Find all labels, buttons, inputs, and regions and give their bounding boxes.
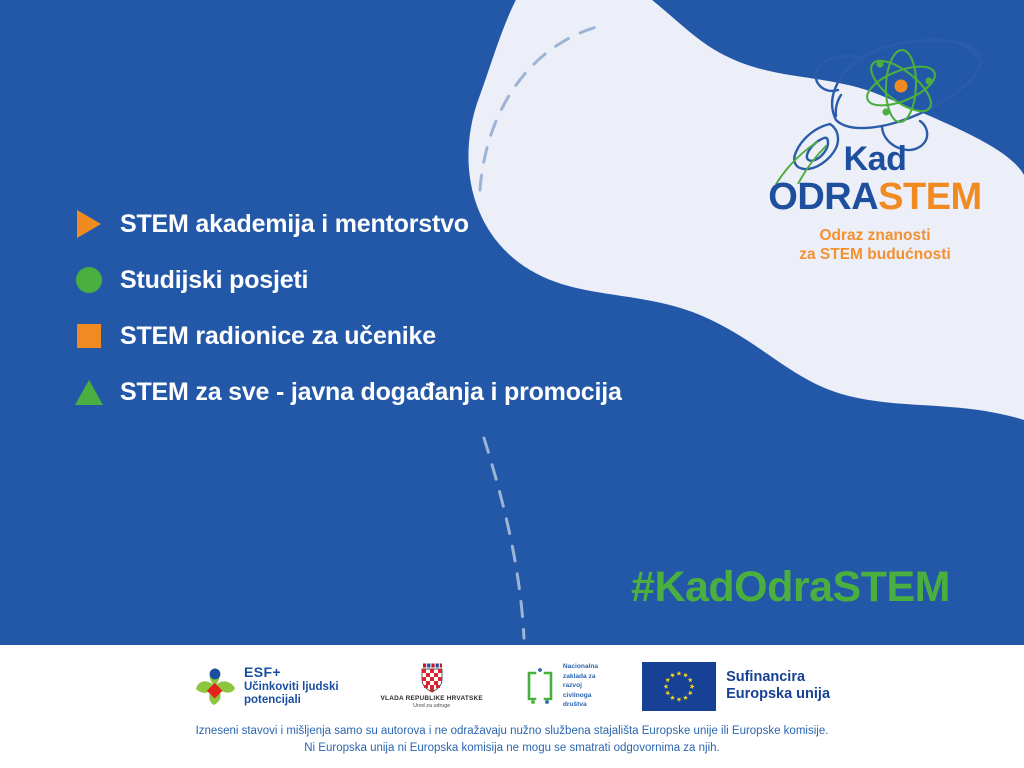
nz-line1: Nacionalna [563, 662, 598, 672]
esf-subtitle-line1: Učinkoviti ljudski [244, 681, 339, 694]
nz-line4: civilnoga [563, 691, 598, 701]
logo-tagline: Odraz znanosti za STEM budućnosti [740, 227, 1010, 265]
vlada-rh-logo: VLADA REPUBLIKE HRVATSKE Ured za udruge [381, 663, 483, 709]
logo-wordmark: Kad ODRASTEM Odraz znanosti za STEM budu… [740, 142, 1010, 265]
triangle-up-icon [72, 375, 106, 409]
esf-text-block: ESF+ Učinkoviti ljudski potencijali [244, 665, 339, 706]
funder-logo-strip: ESF+ Učinkoviti ljudski potencijali [0, 657, 1024, 715]
disclaimer-line2: Ni Europska unija ni Europska komisija n… [0, 740, 1024, 757]
kad-odrastem-logo: Kad ODRASTEM Odraz znanosti za STEM budu… [740, 24, 1010, 264]
nz-line3: razvoj [563, 681, 598, 691]
circle-icon [72, 263, 106, 297]
nz-line5: društva [563, 700, 598, 710]
hashtag-text: #KadOdraSTEM [631, 563, 950, 612]
disclaimer-line1: Izneseni stavovi i mišljenja samo su aut… [0, 723, 1024, 740]
poster-canvas: STEM akademija i mentorstvo Studijski po… [0, 0, 1024, 768]
nacionalna-zaklada-text: Nacionalna zaklada za razvoj civilnoga d… [563, 662, 598, 710]
esf-subtitle-line2: potencijali [244, 694, 339, 707]
eu-line2: Europska unija [726, 686, 830, 703]
bullet-list: STEM akademija i mentorstvo Studijski po… [72, 196, 772, 420]
logo-line-kad: Kad [740, 142, 1010, 176]
nacionalna-zaklada-logo: Nacionalna zaklada za razvoj civilnoga d… [523, 662, 598, 710]
logo-tagline-line2: za STEM budućnosti [740, 246, 1010, 265]
triangle-right-icon [72, 207, 106, 241]
logo-stem-text: STEM [878, 176, 982, 218]
list-item-label: STEM radionice za učenike [120, 322, 436, 351]
logo-line-odrastem: ODRASTEM [740, 178, 1010, 218]
list-item-label: STEM za sve - javna događanja i promocij… [120, 378, 622, 407]
vlada-subtitle: Ured za udruge [413, 703, 450, 709]
eu-flag-icon [642, 662, 716, 711]
vlada-title: VLADA REPUBLIKE HRVATSKE [381, 695, 483, 702]
eu-line1: Sufinancira [726, 669, 830, 686]
blue-background-panel: STEM akademija i mentorstvo Studijski po… [0, 0, 1024, 645]
nz-line2: zaklada za [563, 672, 598, 682]
disclaimer-text: Izneseni stavovi i mišljenja samo su aut… [0, 723, 1024, 758]
list-item-label: STEM akademija i mentorstvo [120, 210, 469, 239]
croatia-coat-of-arms-icon [419, 663, 445, 693]
list-item-label: Studijski posjeti [120, 266, 308, 295]
logo-tagline-line1: Odraz znanosti [740, 227, 1010, 246]
esf-title: ESF+ [244, 665, 339, 681]
footer-band: ESF+ Učinkoviti ljudski potencijali [0, 645, 1024, 768]
eu-logo: Sufinancira Europska unija [642, 662, 830, 711]
esf-pinwheel-icon [194, 665, 236, 707]
eu-text-block: Sufinancira Europska unija [726, 669, 830, 704]
list-item: STEM akademija i mentorstvo [72, 196, 772, 252]
logo-odra-text: ODRA [768, 176, 878, 218]
square-icon [72, 319, 106, 353]
dashed-curve-bottom [484, 438, 524, 638]
list-item: Studijski posjeti [72, 252, 772, 308]
esf-logo: ESF+ Učinkoviti ljudski potencijali [194, 665, 339, 707]
list-item: STEM radionice za učenike [72, 308, 772, 364]
bracket-icon [523, 666, 557, 706]
list-item: STEM za sve - javna događanja i promocij… [72, 364, 772, 420]
